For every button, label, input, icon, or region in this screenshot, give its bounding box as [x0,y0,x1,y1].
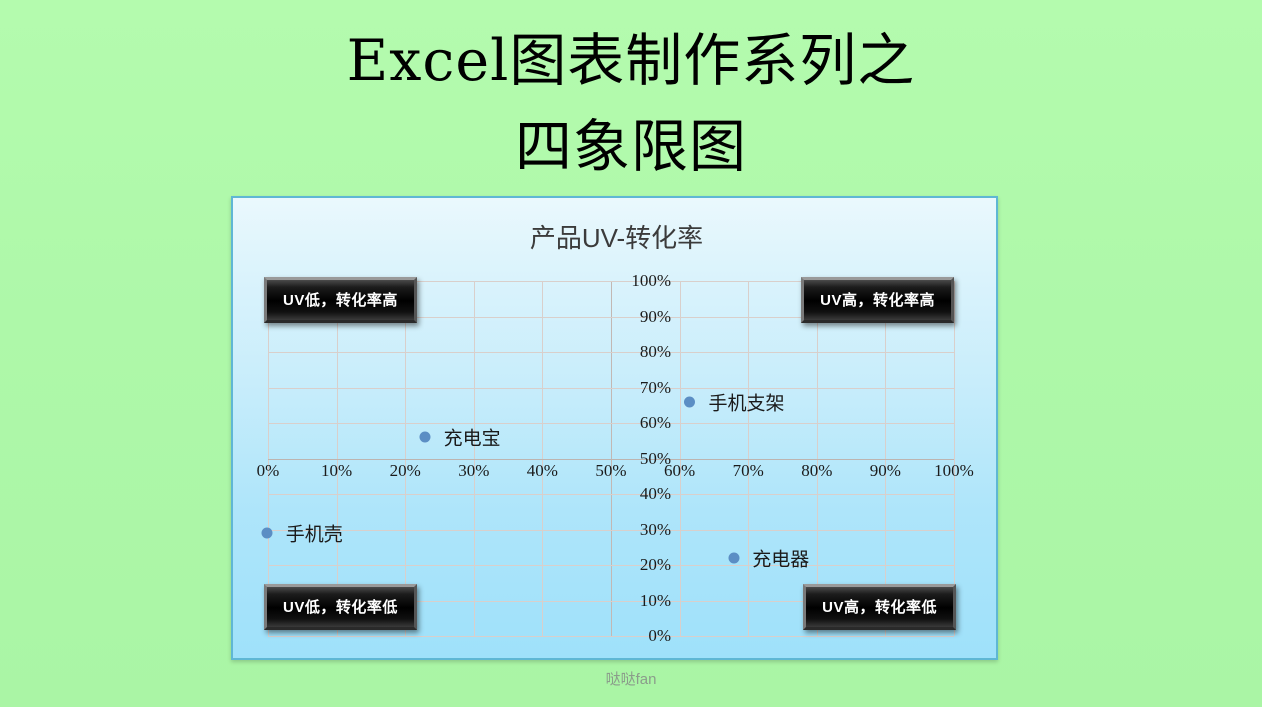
data-point-label: 手机壳 [286,520,343,547]
data-point[interactable]: 充电器 [728,544,809,571]
plot-area: 0%10%20%30%40%50%60%70%80%90%100%0%10%20… [268,281,954,636]
quadrant-label-bottom-left: UV低，转化率低 [264,584,417,630]
y-axis-tick-label: 90% [615,307,671,327]
x-axis-tick-label: 90% [870,461,901,481]
quadrant-label-bottom-right: UV高，转化率低 [803,584,956,630]
chart-container: 产品UV-转化率 0%10%20%30%40%50%60%70%80%90%10… [231,196,998,660]
y-axis-tick-label: 10% [615,591,671,611]
gridline-horizontal [268,565,954,566]
data-point-label: 充电宝 [444,424,501,451]
gridline-horizontal [268,530,954,531]
quadrant-label-top-left: UV低，转化率高 [264,277,417,323]
data-point-marker-icon [420,432,431,443]
page-title: Excel图表制作系列之 四象限图 [0,18,1262,190]
y-axis-tick-label: 60% [615,413,671,433]
y-axis-tick-label: 50% [615,449,671,469]
x-axis-tick-label: 0% [257,461,280,481]
data-point-marker-icon [728,552,739,563]
y-axis-tick-label: 100% [615,271,671,291]
y-axis-tick-label: 80% [615,342,671,362]
gridline-vertical [954,281,955,636]
x-axis-tick-label: 10% [321,461,352,481]
data-point[interactable]: 充电宝 [420,424,501,451]
gridline-horizontal [268,388,954,389]
y-axis-tick-label: 40% [615,484,671,504]
x-axis-tick-label: 40% [527,461,558,481]
data-point[interactable]: 手机支架 [684,388,784,415]
gridline-horizontal [268,494,954,495]
gridline-horizontal [268,423,954,424]
y-axis-tick-label: 20% [615,555,671,575]
x-axis-tick-label: 30% [458,461,489,481]
x-axis-tick-label: 20% [390,461,421,481]
y-axis-tick-label: 30% [615,520,671,540]
data-point-label: 手机支架 [708,388,784,415]
data-point-label: 充电器 [752,544,809,571]
data-point-marker-icon [684,396,695,407]
quadrant-label-top-right: UV高，转化率高 [801,277,954,323]
x-axis-tick-label: 70% [733,461,764,481]
chart-title: 产品UV-转化率 [233,218,1000,255]
watermark: 哒哒fan [0,668,1262,689]
gridline-horizontal [268,352,954,353]
y-axis-tick-label: 0% [615,626,671,646]
data-point-marker-icon [262,528,273,539]
gridline-horizontal [268,459,954,460]
data-point[interactable]: 手机壳 [262,520,343,547]
x-axis-tick-label: 80% [801,461,832,481]
y-axis-tick-label: 70% [615,378,671,398]
x-axis-tick-label: 100% [934,461,974,481]
gridline-horizontal [268,636,954,637]
